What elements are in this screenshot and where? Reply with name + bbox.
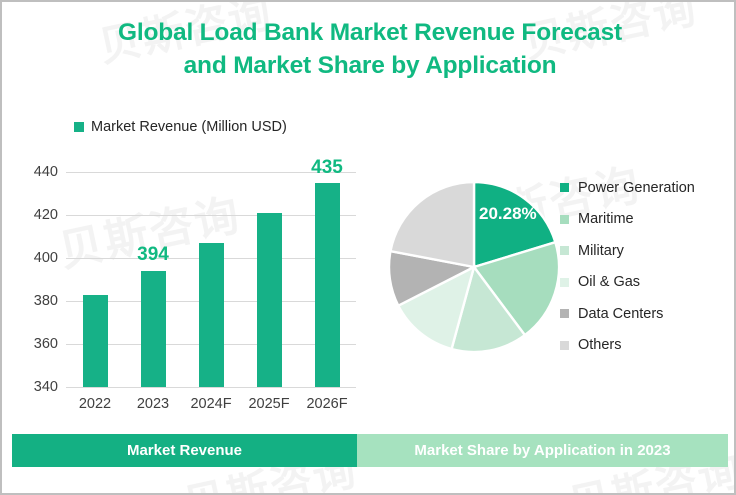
legend-label-oil-and-gas: Oil & Gas (578, 274, 640, 290)
legend-label-market-revenue: Market Revenue (Million USD) (91, 119, 287, 135)
bar-chart-legend: Market Revenue (Million USD) (74, 119, 287, 135)
bar-chart-plot-area: 440 420 400 380 360 340 2 (66, 172, 356, 387)
table-row[interactable] (257, 213, 282, 387)
legend-label-maritime: Maritime (578, 211, 634, 227)
pie-slice-percentage-label: 20.28% (479, 204, 537, 224)
legend-item-data-centers[interactable]: Data Centers (560, 298, 736, 330)
legend-swatch-military (560, 246, 569, 255)
legend-label-power-generation: Power Generation (578, 180, 695, 196)
tab-market-share-by-application[interactable]: Market Share by Application in 2023 (357, 434, 728, 467)
y-axis-tick: 340 (34, 379, 58, 395)
y-axis-tick: 420 (34, 207, 58, 223)
legend-item-others[interactable]: Others (560, 330, 736, 362)
pie-chart-legend: Power Generation Maritime Military Oil &… (560, 172, 736, 361)
legend-label-military: Military (578, 243, 624, 259)
infographic-card: 贝斯咨询 贝斯咨询 贝斯咨询 贝斯咨询 贝斯咨询 贝斯咨询 Global Loa… (0, 0, 736, 495)
legend-swatch-others (560, 341, 569, 350)
pie-slice-others[interactable] (390, 182, 474, 267)
title-line-2: and Market Share by Application (42, 49, 698, 82)
table-row[interactable] (199, 243, 224, 387)
bar-slot[interactable]: 2024F (182, 172, 240, 387)
footer-tab-bar: Market Revenue Market Share by Applicati… (12, 434, 728, 467)
x-axis-tick: 2024F (190, 396, 231, 412)
tab-market-revenue[interactable]: Market Revenue (12, 434, 357, 467)
bar-slot[interactable]: 394 2023 (124, 172, 182, 387)
y-axis-tick: 400 (34, 250, 58, 266)
legend-swatch-maritime (560, 215, 569, 224)
legend-swatch-oil-and-gas (560, 278, 569, 287)
title-line-1: Global Load Bank Market Revenue Forecast (42, 16, 698, 49)
x-axis-tick: 2026F (306, 396, 347, 412)
legend-item-oil-and-gas[interactable]: Oil & Gas (560, 267, 736, 299)
y-axis-tick: 440 (34, 164, 58, 180)
bar-value-label: 394 (137, 244, 169, 266)
pie-chart-svg (384, 172, 568, 362)
bar-slot[interactable]: 2025F (240, 172, 298, 387)
legend-item-maritime[interactable]: Maritime (560, 204, 736, 236)
table-row[interactable] (83, 295, 108, 388)
legend-item-military[interactable]: Military (560, 235, 736, 267)
bar-slot[interactable]: 435 2026F (298, 172, 356, 387)
legend-swatch-market-revenue (74, 122, 84, 132)
legend-swatch-power-generation (560, 183, 569, 192)
x-axis-tick: 2023 (137, 396, 169, 412)
gridline-340: 340 (66, 387, 356, 388)
legend-label-others: Others (578, 337, 622, 353)
bar-slot[interactable]: 2022 (66, 172, 124, 387)
bar-value-label: 435 (311, 157, 343, 179)
x-axis-tick: 2025F (248, 396, 289, 412)
legend-item-power-generation[interactable]: Power Generation (560, 172, 736, 204)
legend-label-data-centers: Data Centers (578, 306, 663, 322)
legend-swatch-data-centers (560, 309, 569, 318)
chart-title: Global Load Bank Market Revenue Forecast… (42, 16, 698, 82)
bar-chart-panel: Market Revenue (Million USD) 440 420 400… (14, 114, 374, 419)
y-axis-tick: 380 (34, 293, 58, 309)
table-row[interactable] (315, 183, 340, 387)
bar-series: 2022 394 2023 2024F 2025F (66, 172, 356, 387)
table-row[interactable] (141, 271, 166, 387)
y-axis-tick: 360 (34, 336, 58, 352)
pie-chart-panel: 20.28% (384, 172, 568, 362)
x-axis-tick: 2022 (79, 396, 111, 412)
